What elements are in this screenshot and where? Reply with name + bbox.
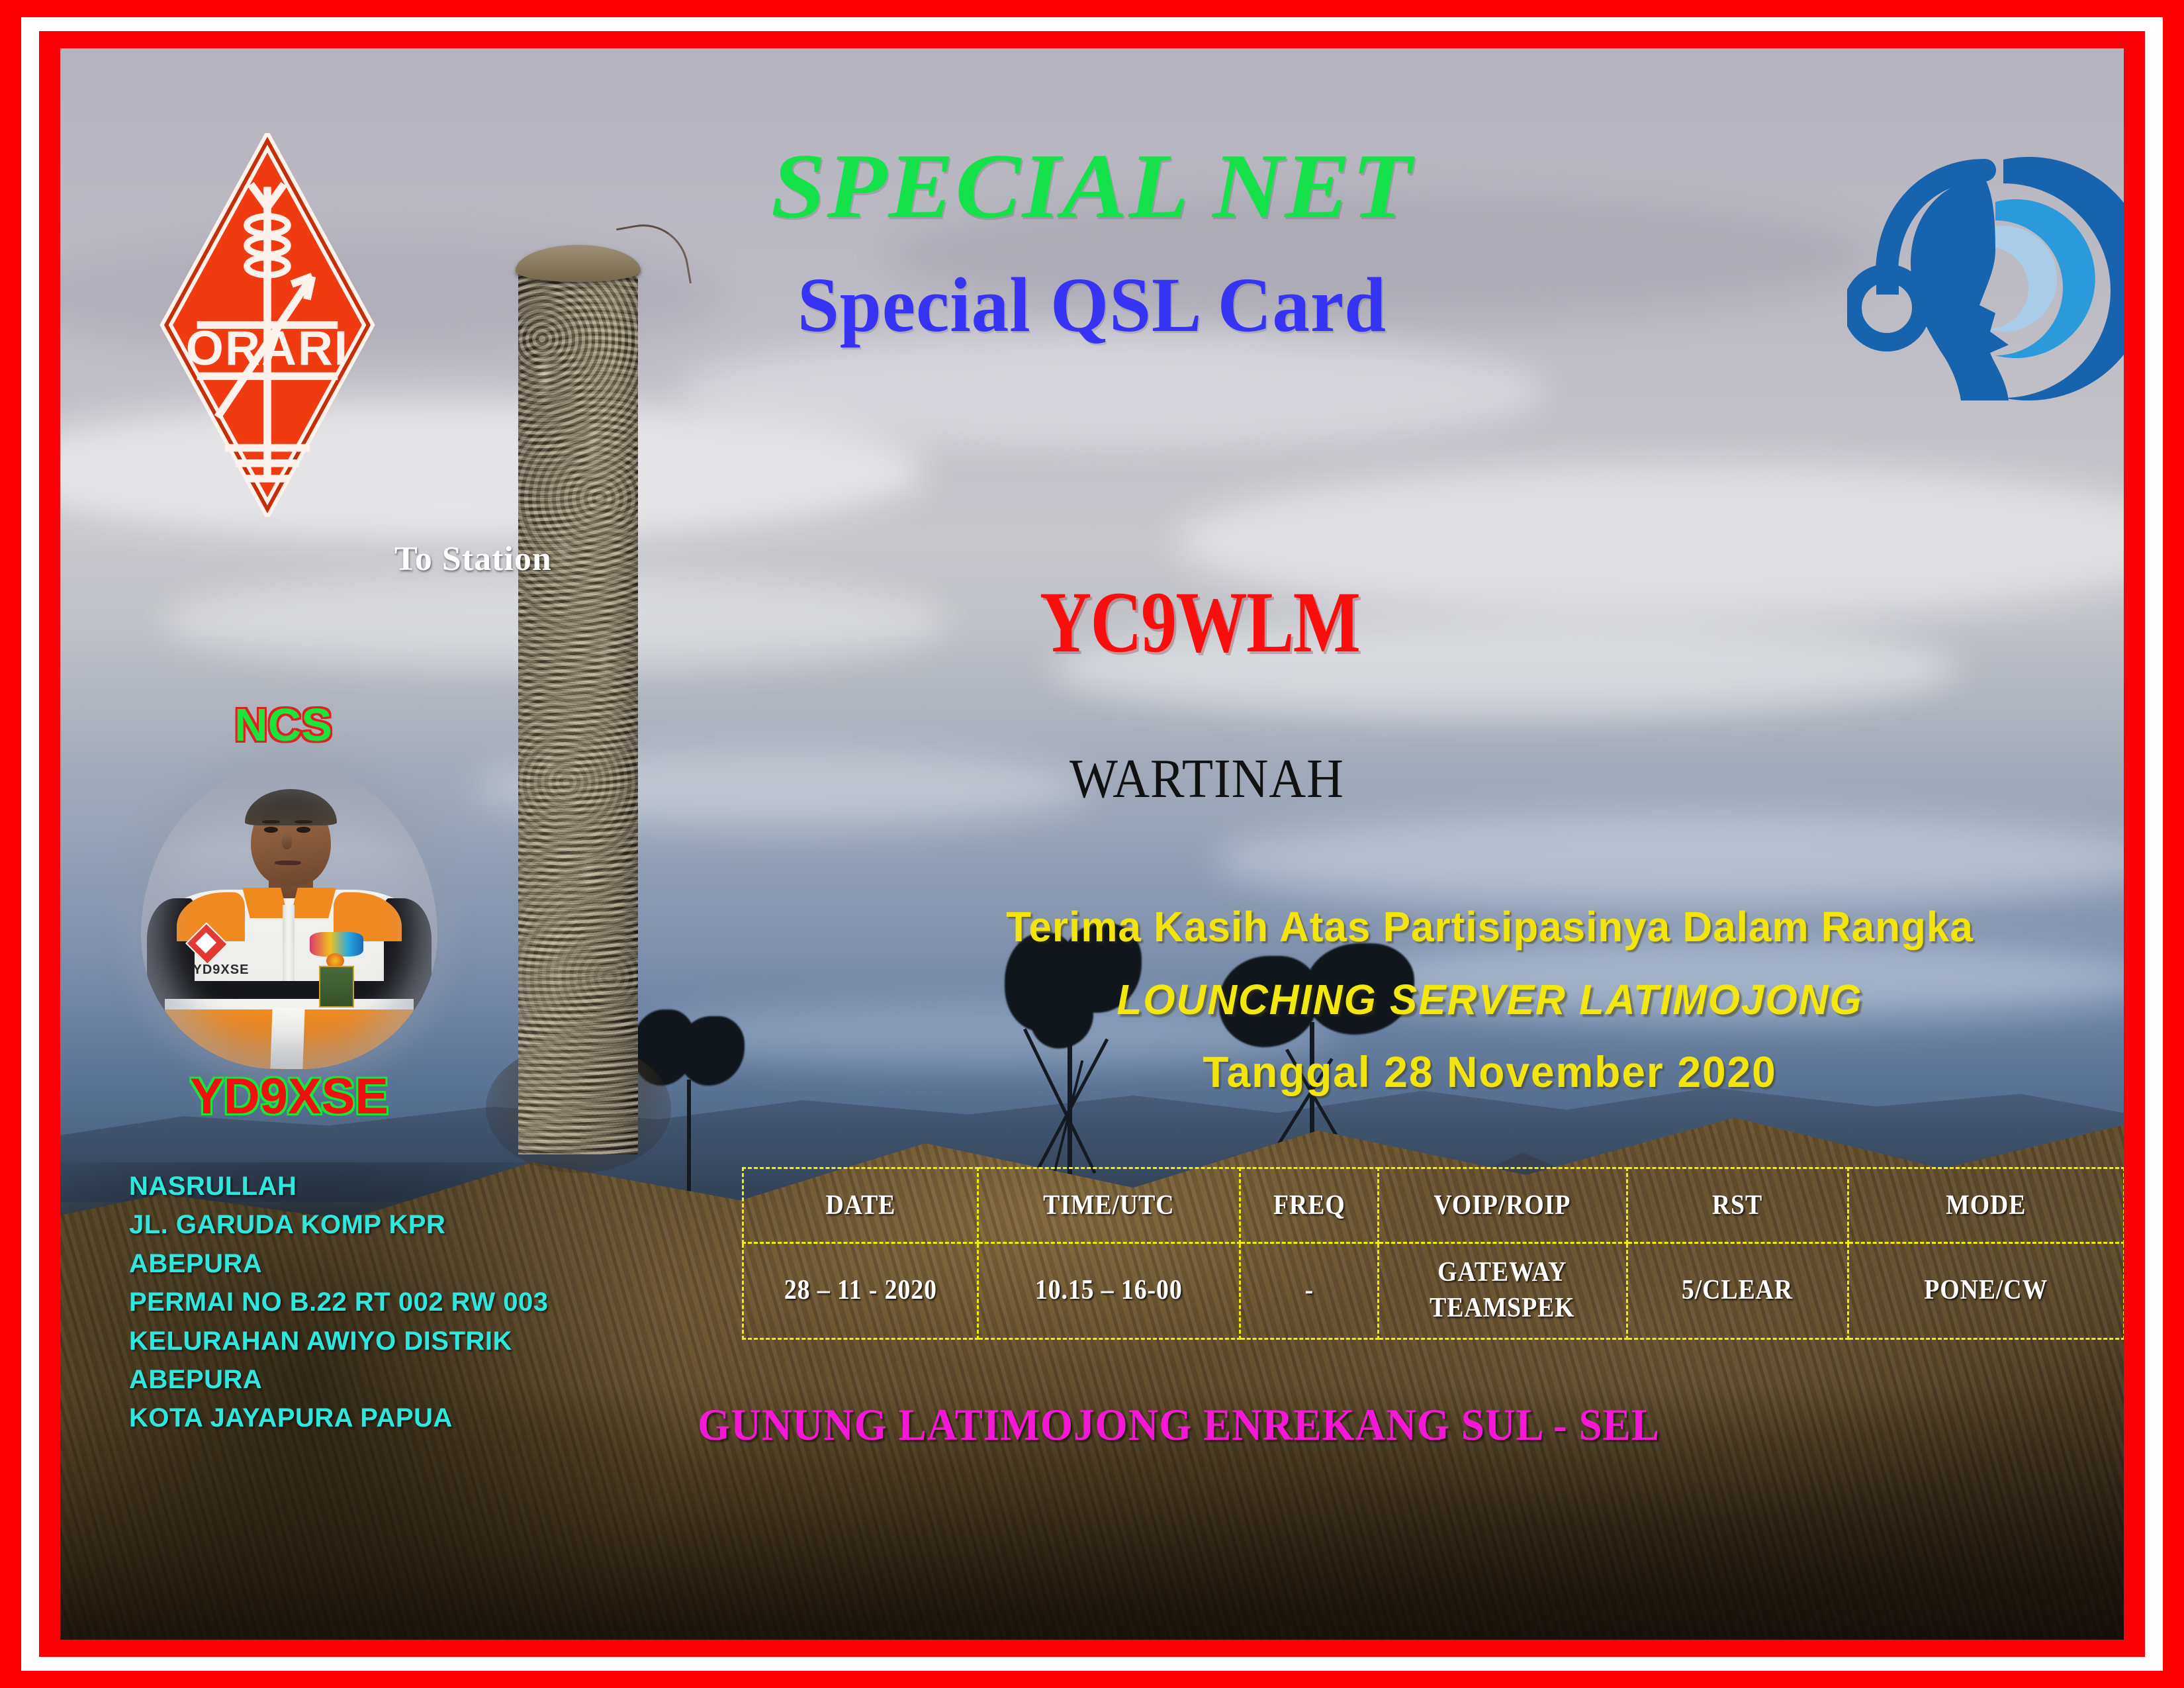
cell-voip-roip: GATEWAY TEAMSPEK bbox=[1390, 1243, 1614, 1339]
qso-log-table: DATE TIME/UTC FREQ VOIP/ROIP RST MODE 28… bbox=[742, 1167, 2124, 1340]
address-line: ABEPURA bbox=[129, 1360, 738, 1399]
column-header-mode: MODE bbox=[1862, 1168, 2111, 1243]
address-line: NASRULLAH bbox=[129, 1167, 738, 1205]
cell-time-utc: 10.15 – 16-00 bbox=[991, 1243, 1227, 1339]
column-header-freq: FREQ bbox=[1247, 1168, 1371, 1243]
sender-address-block: NASRULLAH JL. GARUDA KOMP KPR ABEPURA PE… bbox=[129, 1167, 738, 1438]
address-line: KOTA JAYAPURA PAPUA bbox=[129, 1399, 738, 1437]
qsl-card-photo-area: ORARI bbox=[60, 48, 2124, 1640]
cell-voip-roip-line1: GATEWAY bbox=[1438, 1257, 1567, 1288]
page-title-special-net: SPECIAL NET bbox=[60, 133, 2124, 240]
cell-mode: PONE/CW bbox=[1862, 1243, 2111, 1339]
column-header-rst: RST bbox=[1638, 1168, 1837, 1243]
operator-name: WARTINAH bbox=[1069, 747, 1617, 811]
cell-rst: 5/CLEAR bbox=[1638, 1243, 1837, 1339]
event-date-line: Tanggal 28 November 2020 bbox=[860, 1047, 2118, 1097]
qsl-card-outer-border: ORARI bbox=[0, 0, 2184, 1688]
table-row: 28 – 11 - 2020 10.15 – 16-00 - GATEWAY T… bbox=[743, 1243, 2124, 1339]
address-line: ABEPURA bbox=[129, 1244, 738, 1283]
station-callsign: YC9WLM bbox=[1040, 571, 1528, 673]
footer-address-url: Address : amatir.latimojong.com bbox=[1298, 1637, 1831, 1640]
monument-stone-texture bbox=[518, 268, 638, 1154]
column-header-voip-roip: VOIP/ROIP bbox=[1390, 1168, 1614, 1243]
qsl-card-inner-border: ORARI bbox=[39, 31, 2145, 1657]
thanks-line: Terima Kasih Atas Partisipasinya Dalam R… bbox=[860, 902, 2118, 951]
cell-voip-roip-line2: TEAMSPEK bbox=[1430, 1293, 1575, 1323]
ncs-callsign: YD9XSE bbox=[137, 1068, 441, 1125]
to-station-label: To Station bbox=[394, 539, 552, 579]
stone-monument-cairn bbox=[510, 231, 647, 1154]
page-subtitle-special-qsl-card: Special QSL Card bbox=[101, 260, 2082, 350]
footer-slogan: "AMATIR RADIO ADALAH PROGRESIVE" bbox=[133, 1637, 902, 1640]
address-line: JL. GARUDA KOMP KPR bbox=[129, 1205, 738, 1244]
column-header-date: DATE bbox=[754, 1168, 966, 1243]
address-line: KELURAHAN AWIYO DISTRIK bbox=[129, 1322, 738, 1360]
qsl-card-white-gap: ORARI bbox=[21, 17, 2163, 1671]
event-line: LOUNCHING SERVER LATIMOJONG bbox=[860, 975, 2118, 1024]
cell-date: 28 – 11 - 2020 bbox=[754, 1243, 966, 1339]
cell-freq: - bbox=[1247, 1243, 1371, 1339]
address-line: PERMAI NO B.22 RT 002 RW 003 bbox=[129, 1283, 738, 1321]
ncs-label: NCS bbox=[201, 698, 366, 751]
table-header-row: DATE TIME/UTC FREQ VOIP/ROIP RST MODE bbox=[743, 1168, 2124, 1243]
column-header-time-utc: TIME/UTC bbox=[991, 1168, 1227, 1243]
